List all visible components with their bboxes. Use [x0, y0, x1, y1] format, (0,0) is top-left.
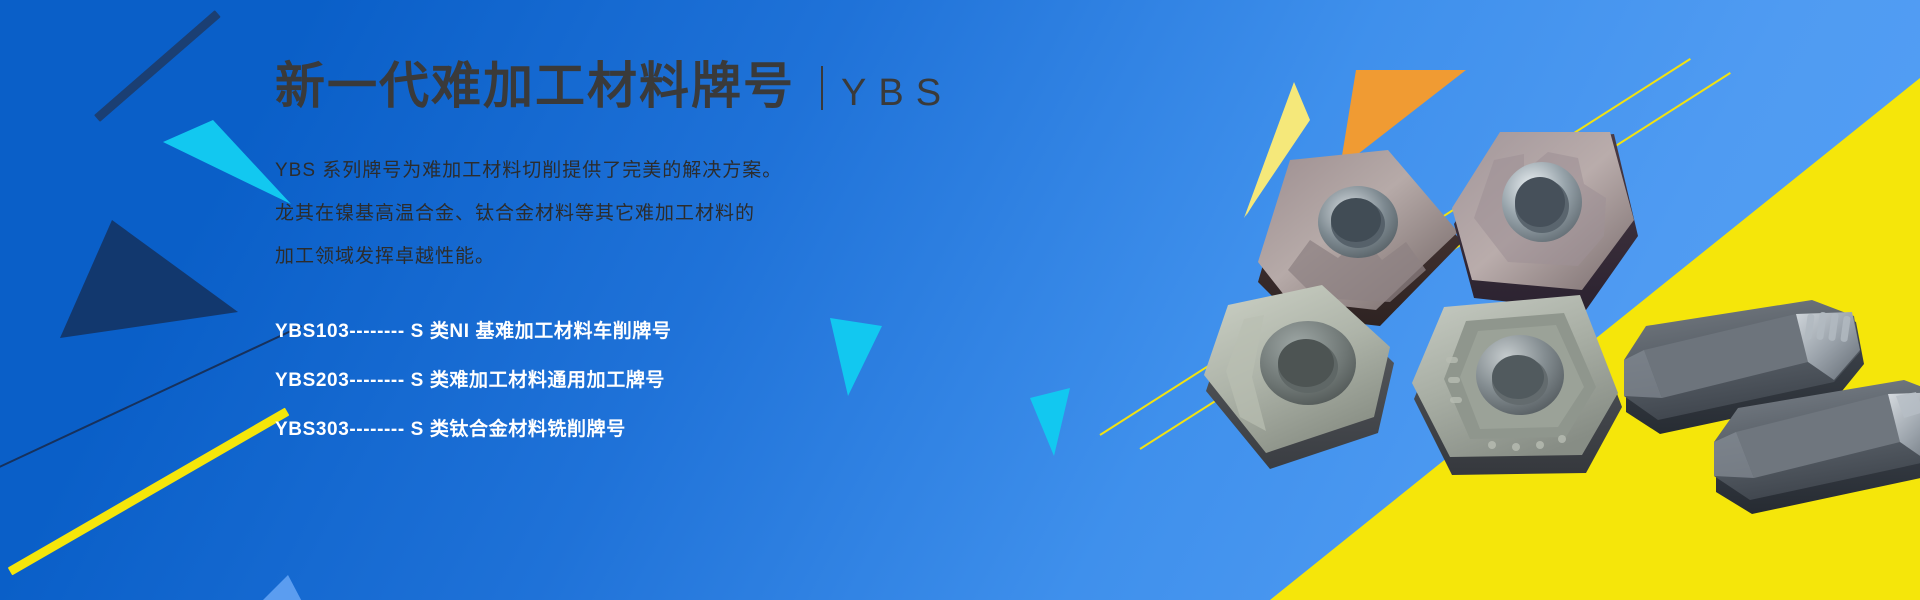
- description-line-2: 龙其在镍基高温合金、钛合金材料等其它难加工材料的: [275, 199, 1175, 228]
- grade-item-ybs203: YBS203-------- S 类难加工材料通用加工牌号: [275, 365, 1175, 392]
- page-title: 新一代难加工材料牌号: [275, 58, 795, 116]
- description-line-3: 加工领域发挥卓越性能。: [275, 242, 1175, 271]
- promo-banner: 新一代难加工材料牌号 YBS YBS 系列牌号为难加工材料切削提供了完美的解决方…: [0, 0, 1920, 600]
- grooving-bar-insert-lower: [1710, 378, 1920, 558]
- round-milling-insert: [1200, 285, 1430, 495]
- navy-triangle: [60, 220, 240, 340]
- light-blue-triangle: [250, 575, 320, 600]
- navy-diagonal-bar: [94, 10, 221, 122]
- banner-text-column: 新一代难加工材料牌号 YBS YBS 系列牌号为难加工材料切削提供了完美的解决方…: [275, 58, 1175, 463]
- square-milling-insert: [1400, 295, 1650, 515]
- headline-separator: [821, 66, 823, 110]
- headline-row: 新一代难加工材料牌号 YBS: [275, 58, 1175, 116]
- headline-suffix: YBS: [841, 74, 953, 116]
- yellow-diagonal-bar: [8, 408, 290, 576]
- cyan-triangle: [163, 120, 293, 210]
- description-line-1: YBS 系列牌号为难加工材料切削提供了完美的解决方案。: [275, 156, 1175, 185]
- grade-item-ybs103: YBS103-------- S 类NI 基难加工材料车削牌号: [275, 316, 1175, 343]
- navy-thin-line: [0, 325, 302, 477]
- grade-item-ybs303: YBS303-------- S 类钛合金材料铣削牌号: [275, 414, 1175, 441]
- product-insert-group: [1230, 150, 1920, 600]
- grade-list: YBS103-------- S 类NI 基难加工材料车削牌号 YBS203--…: [275, 316, 1175, 441]
- description-paragraph: YBS 系列牌号为难加工材料切削提供了完美的解决方案。 龙其在镍基高温合金、钛合…: [275, 156, 1175, 272]
